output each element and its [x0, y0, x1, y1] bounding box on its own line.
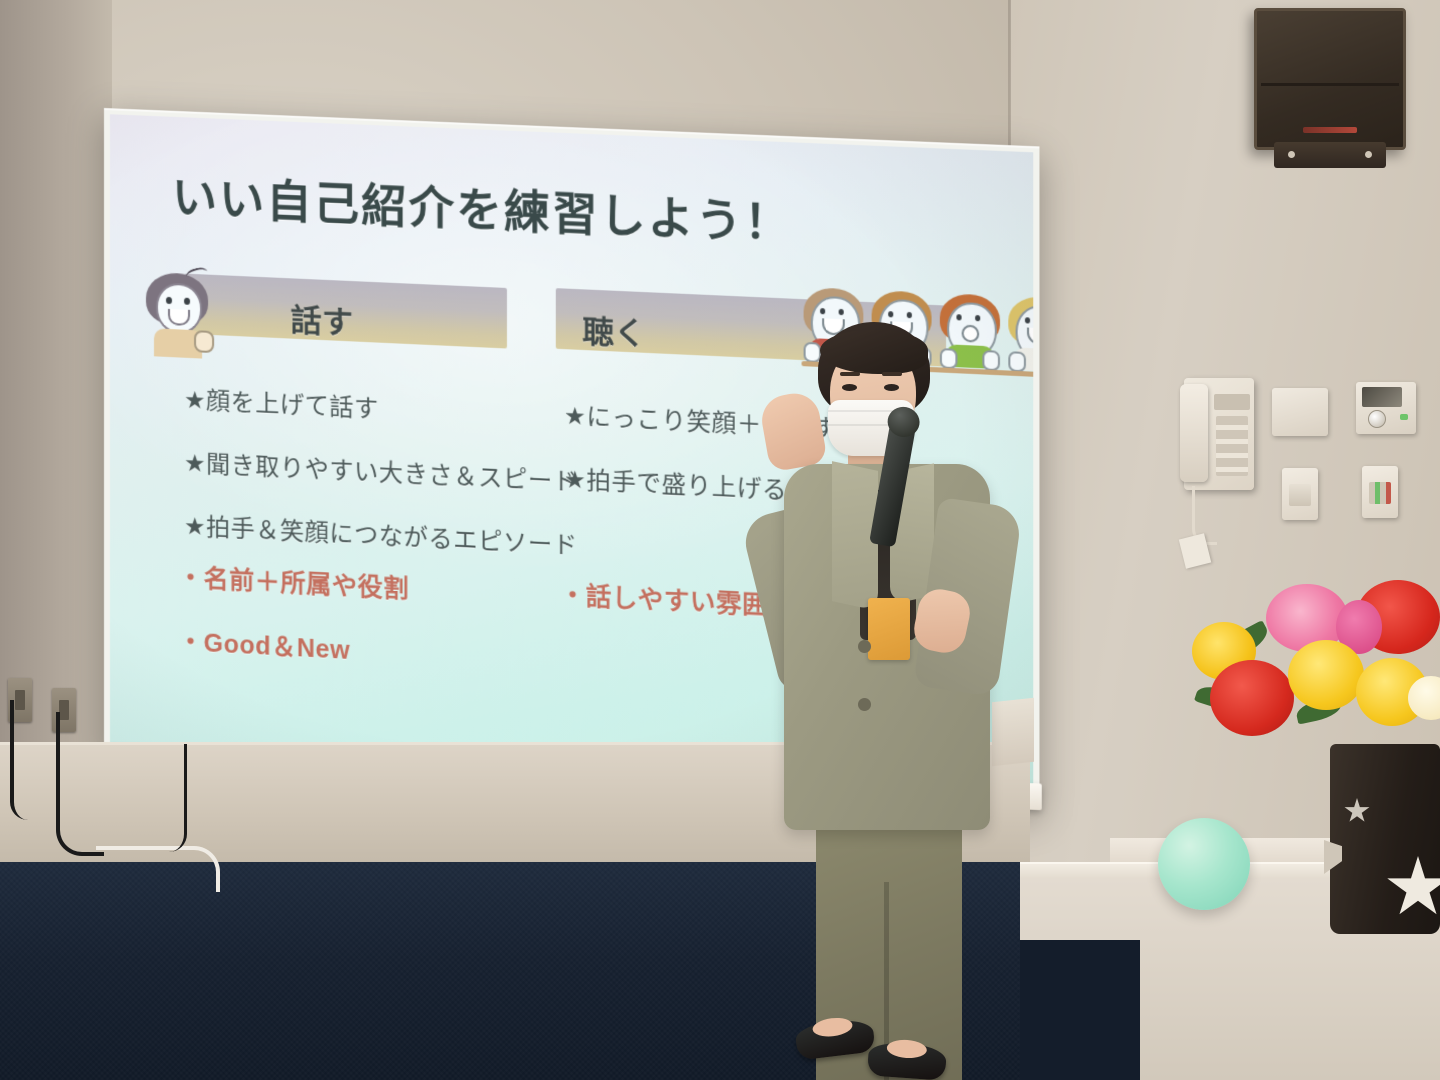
- control-panel[interactable]: [1272, 388, 1328, 436]
- flower-red: [1210, 660, 1294, 736]
- presenter-left-hand: [758, 390, 828, 473]
- phone-display: [1214, 394, 1250, 410]
- presenter-name-badge: [868, 598, 910, 660]
- light-switch-triple[interactable]: [1362, 466, 1398, 518]
- light-switch-single[interactable]: [1282, 468, 1318, 520]
- power-cable: [56, 712, 104, 856]
- thermostat-panel[interactable]: [1356, 382, 1416, 434]
- presenter-eye: [842, 384, 857, 391]
- pa-speaker-indicator: [1303, 127, 1357, 133]
- projector-cable: [140, 744, 187, 852]
- star-cutout-icon: [1344, 798, 1370, 824]
- white-cable: [96, 846, 220, 892]
- wall-phone[interactable]: [1184, 378, 1254, 490]
- carpet-floor-right: [1020, 940, 1140, 1080]
- vase-notch: [1324, 840, 1342, 874]
- pa-speaker-bracket: [1274, 142, 1386, 168]
- flower-yellow: [1288, 640, 1364, 710]
- jacket-button: [858, 698, 871, 711]
- pa-speaker: [1254, 8, 1406, 150]
- jacket-button: [858, 640, 871, 653]
- star-cutout-icon: [1386, 856, 1440, 920]
- screenshot-root: いい自己紹介を練習しよう！ 話す: [0, 0, 1440, 1080]
- thermostat-dial-icon[interactable]: [1368, 410, 1386, 428]
- mint-green-ball: [1158, 818, 1250, 910]
- power-cable: [10, 700, 40, 820]
- phone-handset-icon: [1180, 384, 1208, 482]
- presenter-eyebrow: [840, 372, 860, 376]
- presenter: [740, 322, 1030, 1080]
- phone-keypad[interactable]: [1216, 416, 1248, 476]
- pa-speaker-seam: [1261, 83, 1399, 86]
- thermostat-display: [1362, 387, 1402, 407]
- switch-rocker-icon[interactable]: [1369, 482, 1391, 504]
- left-wall-return: [0, 0, 112, 760]
- dark-vase: [1330, 744, 1440, 934]
- switch-rocker-icon[interactable]: [1289, 484, 1311, 506]
- thermostat-green-led: [1400, 414, 1408, 420]
- presenter-eye: [884, 384, 899, 391]
- presenter-eyebrow: [882, 372, 902, 376]
